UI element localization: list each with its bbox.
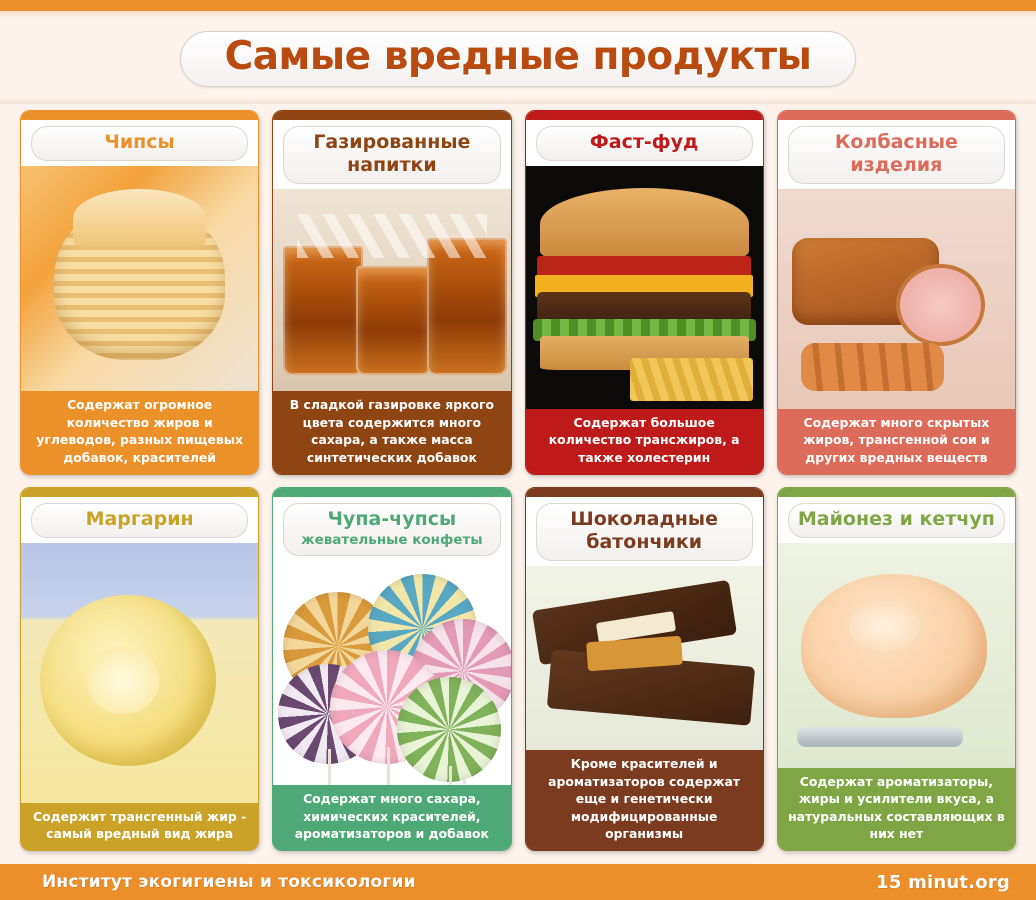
product-card-margarin[interactable]: Маргарин Содержит трансгенный жир - самы…	[20, 487, 259, 852]
footer-source[interactable]: 15 minut.org	[876, 872, 1010, 893]
chips-photo	[21, 166, 258, 391]
footer-gap	[0, 857, 1036, 864]
card-top-accent	[526, 488, 763, 497]
card-header: Маргарин	[21, 497, 258, 543]
card-subtitle: жевательные конфеты	[290, 532, 493, 549]
lollipop-stick	[449, 766, 452, 785]
burger-photo	[526, 166, 763, 409]
infographic-poster: Самые вредные продукты Чипсы Содержат ог…	[0, 0, 1036, 900]
card-title: Маргарин	[38, 508, 241, 531]
card-title: Чипсы	[38, 131, 241, 154]
card-title: Майонез и кетчуп	[795, 508, 998, 531]
top-accent-strip	[0, 0, 1036, 11]
card-header: Шоколадные батончики	[526, 497, 763, 566]
mayonnaise-photo	[778, 543, 1015, 768]
card-title: Чупа-чупсы	[290, 508, 493, 531]
product-card-mayonez-i-ketchup[interactable]: Майонез и кетчуп Содержат ароматизаторы,…	[777, 487, 1016, 852]
card-caption: Кроме красителей и ароматизаторов содерж…	[526, 750, 763, 850]
product-card-chipsy[interactable]: Чипсы Содержат огромное количество жиров…	[20, 110, 259, 475]
card-header: Чипсы	[21, 120, 258, 166]
card-title-pill: Маргарин	[31, 503, 248, 538]
footer-organization: Институт экогигиены и токсикологии	[42, 872, 416, 892]
product-card-kolbasnye-izdeliya[interactable]: Колбасные изделия Содержат много скрытых…	[777, 110, 1016, 475]
card-title-pill: Фаст-фуд	[536, 126, 753, 161]
card-caption: Содержат ароматизаторы, жиры и усилители…	[778, 768, 1015, 850]
card-header: Колбасные изделия	[778, 120, 1015, 189]
poster-footer: Институт экогигиены и токсикологии 15 mi…	[0, 864, 1036, 900]
card-title-pill: Шоколадные батончики	[536, 503, 753, 561]
lollipop-stick	[387, 747, 390, 785]
card-title-pill: Майонез и кетчуп	[788, 503, 1005, 538]
sausage-photo	[778, 189, 1015, 408]
card-title: Колбасные изделия	[795, 131, 998, 177]
card-title-pill: Чупа-чупсы жевательные конфеты	[283, 503, 500, 556]
title-pill: Самые вредные продукты	[180, 31, 857, 88]
lollipop-stick	[328, 749, 331, 785]
card-title-pill: Колбасные изделия	[788, 126, 1005, 184]
page-title: Самые вредные продукты	[225, 37, 812, 78]
product-card-fast-fud[interactable]: Фаст-фуд Содержат большое количество тра…	[525, 110, 764, 475]
card-top-accent	[21, 111, 258, 120]
top-strip-fade	[0, 11, 1036, 20]
card-title-pill: Газированные напитки	[283, 126, 500, 184]
card-top-accent	[273, 488, 510, 497]
card-caption: Содержат много сахара, химических красит…	[273, 785, 510, 850]
card-title: Фаст-фуд	[543, 131, 746, 154]
card-title-pill: Чипсы	[31, 126, 248, 161]
card-title: Газированные напитки	[290, 131, 493, 177]
card-caption: Содержат огромное количество жиров и угл…	[21, 391, 258, 473]
card-title: Шоколадные батончики	[543, 508, 746, 554]
card-caption: Содержат много скрытых жиров, трансгенно…	[778, 409, 1015, 474]
card-top-accent	[21, 488, 258, 497]
lollipops-photo	[273, 561, 510, 786]
card-caption: Содержат большое количество трансжиров, …	[526, 409, 763, 474]
product-card-gazirovannye-napitki[interactable]: Газированные напитки В сладкой газировке…	[272, 110, 511, 475]
card-header: Газированные напитки	[273, 120, 510, 189]
card-caption: Содержит трансгенный жир - самый вредный…	[21, 803, 258, 850]
card-header: Фаст-фуд	[526, 120, 763, 166]
margarine-photo	[21, 543, 258, 803]
product-card-grid: Чипсы Содержат огромное количество жиров…	[0, 104, 1036, 857]
card-top-accent	[778, 111, 1015, 120]
poster-header: Самые вредные продукты	[0, 20, 1036, 98]
product-card-chupa-chupsy[interactable]: Чупа-чупсы жевательные конфеты Содержат …	[272, 487, 511, 852]
card-top-accent	[273, 111, 510, 120]
product-card-shokoladnye-batonchiki[interactable]: Шоколадные батончики Кроме красителей и …	[525, 487, 764, 852]
card-top-accent	[526, 111, 763, 120]
card-top-accent	[778, 488, 1015, 497]
card-header: Майонез и кетчуп	[778, 497, 1015, 543]
chocolate-bars-photo	[526, 566, 763, 750]
card-header: Чупа-чупсы жевательные конфеты	[273, 497, 510, 561]
card-caption: В сладкой газировке яркого цвета содержи…	[273, 391, 510, 473]
soda-photo	[273, 189, 510, 391]
